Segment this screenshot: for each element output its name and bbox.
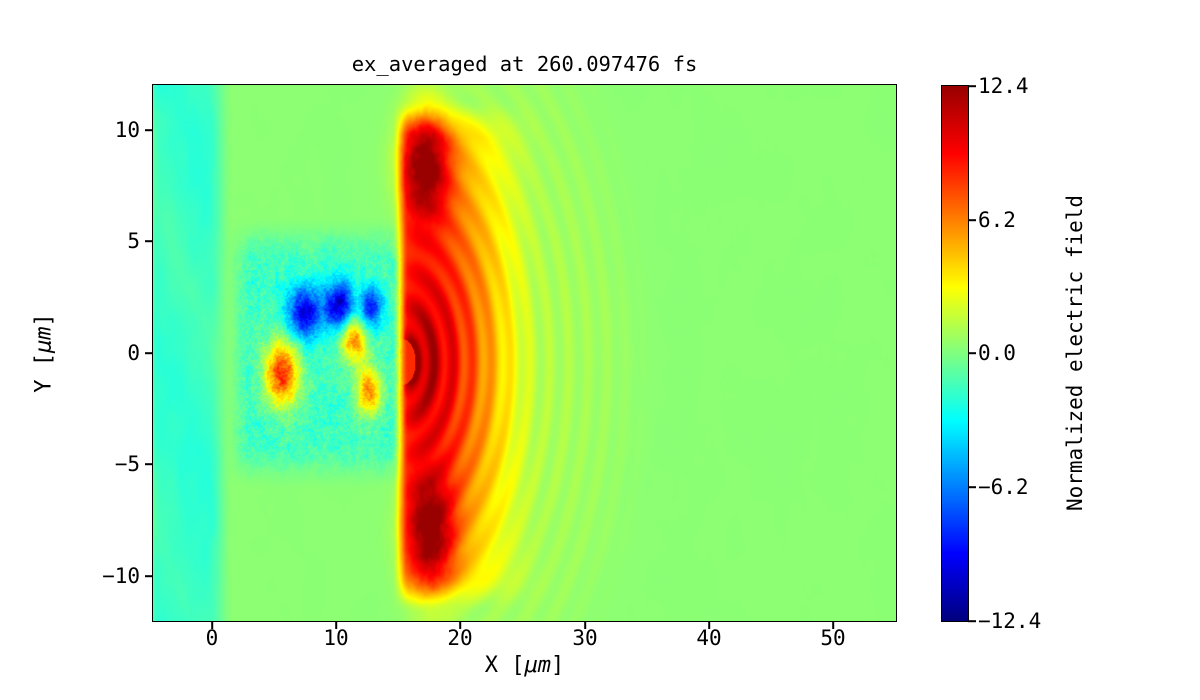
- xtick-label-4: 40: [696, 626, 721, 650]
- cbtick-label-mid: 0.0: [978, 341, 1016, 365]
- cbtick-mark-lower: [968, 486, 976, 488]
- xtick-label-5: 50: [820, 626, 845, 650]
- colorbar-gradient: [942, 86, 968, 621]
- xtick-label-1: 10: [323, 626, 348, 650]
- colorbar[interactable]: [941, 85, 969, 622]
- cbtick-label-lower: −6.2: [978, 475, 1029, 499]
- colorbar-label: Normalized electric field: [1063, 195, 1087, 511]
- cbtick-label-upper: 6.2: [978, 208, 1016, 232]
- figure-canvas: ex_averaged at 260.097476 fs 0 10 20 30 …: [0, 0, 1200, 700]
- ytick-mark-4: [145, 575, 152, 577]
- x-axis-unit: μm: [525, 653, 552, 678]
- cbtick-mark-mid: [968, 352, 976, 354]
- xtick-label-2: 20: [447, 626, 472, 650]
- ytick-mark-0: [145, 129, 152, 131]
- x-axis-label: X [μm]: [152, 653, 897, 678]
- ytick-label-0: 10: [115, 118, 140, 142]
- plot-title: ex_averaged at 260.097476 fs: [152, 52, 897, 76]
- cbtick-mark-upper: [968, 219, 976, 221]
- ytick-label-3: −5: [115, 452, 140, 476]
- y-axis-label: Y [μm]: [32, 313, 57, 393]
- xtick-label-3: 30: [572, 626, 597, 650]
- cbtick-label-top: 12.4: [978, 74, 1029, 98]
- ytick-label-1: 5: [127, 229, 140, 253]
- xtick-label-0: 0: [206, 626, 219, 650]
- cbtick-label-bottom: −12.4: [978, 609, 1041, 633]
- y-axis-label-wrap: Y [μm]: [44, 0, 45, 700]
- ytick-label-4: −10: [102, 564, 140, 588]
- heatmap-axes[interactable]: [152, 84, 897, 622]
- ytick-mark-3: [145, 463, 152, 465]
- ytick-mark-2: [145, 352, 152, 354]
- ytick-label-2: 0: [127, 341, 140, 365]
- field-heatmap: [153, 85, 896, 621]
- cbtick-mark-top: [968, 85, 976, 87]
- ytick-mark-1: [145, 240, 152, 242]
- y-axis-unit: μm: [32, 327, 57, 354]
- cbtick-mark-bottom: [968, 620, 976, 622]
